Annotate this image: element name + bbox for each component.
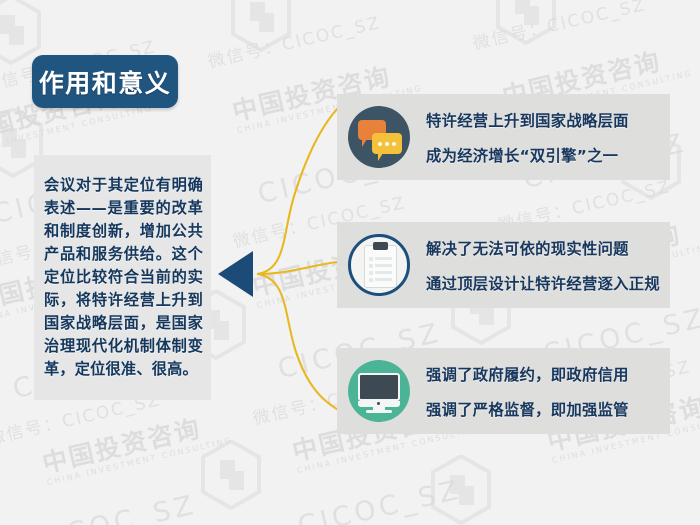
point-panel-2: 解决了无法可依的现实性问题 通过顶层设计让特许经营逐入正规	[337, 222, 670, 308]
point-panel-2-lines: 解决了无法可依的现实性问题 通过顶层设计让特许经营逐入正规	[426, 237, 660, 294]
point-panel-1-lines: 特许经营上升到国家战略层面 成为经济增长“双引擎”之一	[426, 109, 629, 166]
watermark-code: CICOC_SZ	[30, 489, 200, 525]
monitor-screen	[358, 373, 400, 401]
clipboard-row	[369, 257, 392, 260]
connector-branch-bottom	[257, 274, 344, 413]
summary-text-box: 会议对于其定位有明确表述——是重要的改革和制度创新，增加公共产品和服务供给。这个…	[34, 155, 211, 400]
section-title-badge: 作用和意义	[32, 55, 178, 108]
point-panel-3: 强调了政府履约，即政府信用 强调了严格监督，即加强监管	[337, 348, 670, 434]
connector-branch-top	[257, 102, 344, 274]
company-hex-logo-icon	[0, 0, 42, 65]
bubble-dot	[378, 142, 382, 146]
monitor-dot	[377, 402, 380, 405]
point-line: 解决了无法可依的现实性问题	[426, 237, 660, 259]
bubble-dot	[392, 142, 396, 146]
monitor-foot	[366, 410, 392, 413]
desktop-monitor-icon	[348, 360, 410, 422]
company-hex-logo-icon	[230, 0, 292, 52]
summary-paragraph: 会议对于其定位有明确表述——是重要的改革和制度创新，增加公共产品和服务供给。这个…	[34, 174, 211, 382]
watermark-wechat: 微信号：CICOC_SZ	[205, 8, 383, 72]
point-line: 特许经营上升到国家战略层面	[426, 109, 629, 131]
clipboard-clip	[373, 242, 388, 250]
bubble-dot	[385, 142, 389, 146]
clipboard-body	[365, 246, 396, 287]
clipboard-row	[369, 271, 392, 274]
company-hex-logo-icon	[430, 455, 492, 525]
speech-bubble-yellow	[372, 133, 402, 154]
speech-bubbles-icon	[348, 106, 410, 168]
point-line: 通过顶层设计让特许经营逐入正规	[426, 272, 660, 294]
company-hex-logo-icon	[200, 440, 262, 510]
watermark-company: 中国投资咨询 CHINA INVESTMENT CONSULTING	[40, 409, 234, 487]
point-line: 成为经济增长“双引擎”之一	[426, 144, 629, 166]
clipboard-checklist-icon	[348, 234, 410, 296]
section-title-text: 作用和意义	[39, 64, 172, 100]
point-panel-3-lines: 强调了政府履约，即政府信用 强调了严格监督，即加强监管	[426, 363, 629, 420]
watermark-wechat: 微信号：CICOC_SZ	[470, 0, 648, 54]
connector-lines	[210, 80, 350, 425]
clipboard-row	[369, 264, 392, 267]
clipboard-row	[369, 278, 392, 281]
point-panel-1: 特许经营上升到国家战略层面 成为经济增长“双引擎”之一	[337, 94, 670, 180]
infographic-canvas: 中国投资咨询 CHINA INVESTMENT CONSULTING 中国投资咨…	[0, 0, 700, 525]
point-line: 强调了政府履约，即政府信用	[426, 363, 629, 385]
company-hex-logo-icon	[495, 0, 557, 45]
point-line: 强调了严格监督，即加强监管	[426, 398, 629, 420]
watermark-code: CICOC_SZ	[295, 474, 465, 525]
